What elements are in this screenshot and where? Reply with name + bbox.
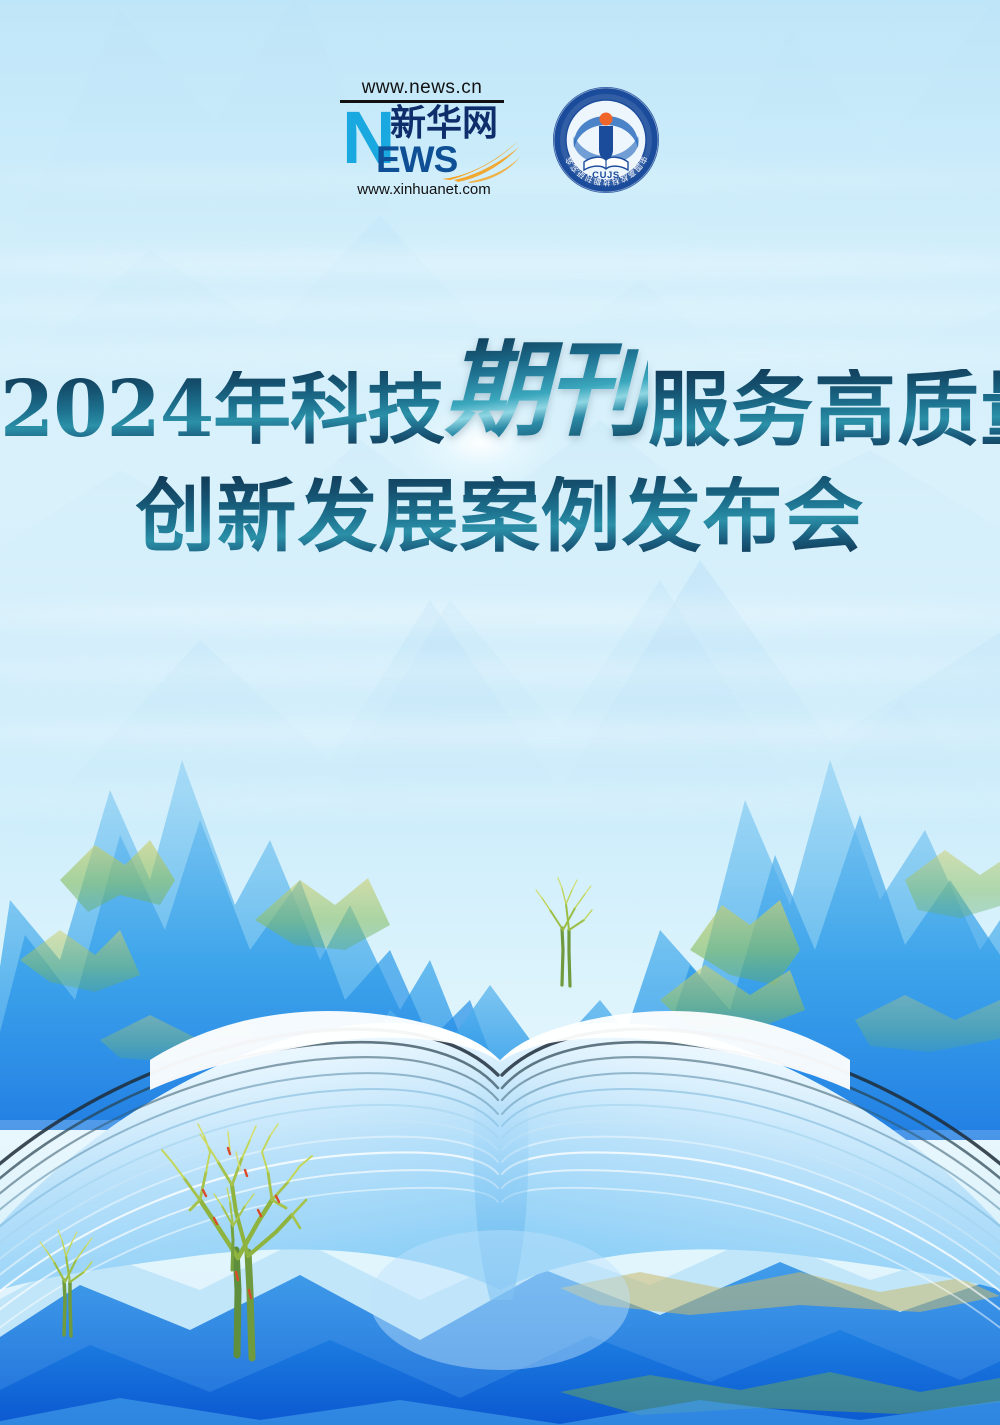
xinhua-url-bottom: www.xinhuanet.com — [340, 182, 508, 197]
xinhua-hanzi: 新华网 — [390, 105, 498, 143]
xinhua-swoosh-icon — [440, 139, 520, 183]
poster-root: www.news.cn N 新华网 EWS www.xinhuanet.com — [0, 0, 1000, 1425]
tree-on-mountain — [536, 878, 592, 986]
xinhuanet-logo[interactable]: www.news.cn N 新华网 EWS www.xinhuanet.com — [340, 78, 508, 202]
badge-sun-dot — [600, 113, 613, 126]
tree-large-foreground — [162, 1124, 312, 1358]
cujs-society-badge[interactable]: 中国高校科技期刊研究会 Society of China University … — [552, 86, 660, 194]
badge-pillar — [599, 126, 613, 160]
badge-acronym: CUJS — [592, 170, 620, 181]
tree-small-left — [40, 1230, 92, 1336]
header-logo-row: www.news.cn N 新华网 EWS www.xinhuanet.com — [0, 74, 1000, 206]
xinhua-wordmark: N 新华网 EWS — [340, 105, 508, 179]
trees-layer — [0, 0, 1000, 1425]
